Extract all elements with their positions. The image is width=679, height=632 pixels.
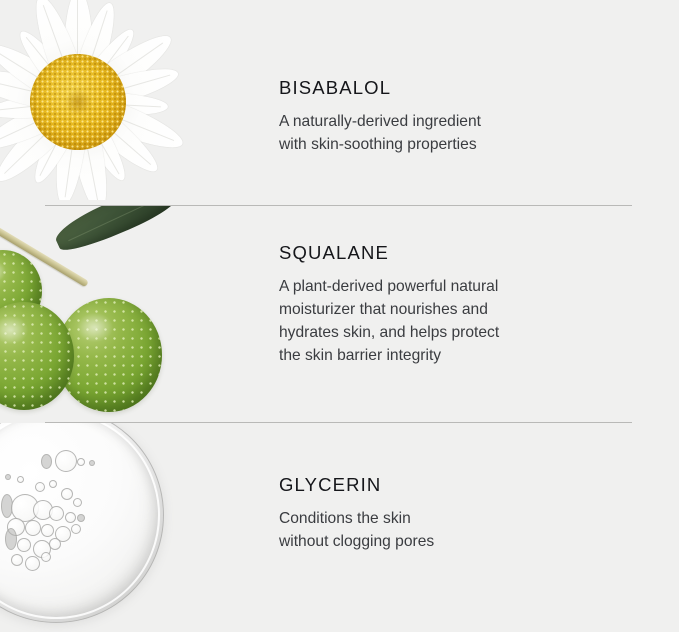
gel-bubble (49, 506, 64, 521)
gel-bubble (49, 480, 57, 488)
gel-bubble (77, 514, 85, 522)
gel-bubble (71, 524, 81, 534)
gel-bubble (35, 482, 45, 492)
gel-bubble (25, 520, 41, 536)
description-line: Conditions the skin (279, 508, 639, 531)
gel-bubble (17, 476, 24, 483)
gel-bubble (11, 554, 23, 566)
green-olives-image (0, 206, 210, 422)
description-line: the skin barrier integrity (279, 345, 639, 368)
olive-leaf (51, 206, 186, 259)
glycerin-gel-droplet-image (0, 423, 210, 632)
olive-fruit (0, 302, 74, 410)
ingredient-text-glycerin: GLYCERIN Conditions the skin without clo… (279, 475, 639, 554)
gel-bubble (77, 458, 85, 466)
daisy-flower-image (0, 0, 205, 200)
gel-bubble (5, 528, 17, 550)
description-line: with skin-soothing properties (279, 134, 639, 157)
ingredient-highlights-page: BISABALOL A naturally-derived ingredient… (0, 0, 679, 632)
description-line: A naturally-derived ingredient (279, 111, 639, 134)
gel-bubble (73, 498, 82, 507)
description-line: hydrates skin, and helps protect (279, 322, 639, 345)
gel-bubble (65, 512, 76, 523)
ingredient-row-bisabalol: BISABALOL A naturally-derived ingredient… (0, 0, 679, 205)
gel-bubble (89, 460, 95, 466)
gel-bubble (61, 488, 73, 500)
gel-bubble (49, 538, 61, 550)
gel-bubble (55, 450, 77, 472)
ingredient-description-glycerin: Conditions the skin without clogging por… (279, 508, 639, 554)
ingredient-text-bisabalol: BISABALOL A naturally-derived ingredient… (279, 78, 639, 157)
description-line: moisturizer that nourishes and (279, 299, 639, 322)
gel-droplet (0, 423, 164, 623)
ingredient-title-bisabalol: BISABALOL (279, 78, 639, 98)
ingredient-description-bisabalol: A naturally-derived ingredient with skin… (279, 111, 639, 157)
gel-bubble (25, 556, 40, 571)
description-line: without clogging pores (279, 531, 639, 554)
gel-bubble (41, 454, 52, 469)
ingredient-title-glycerin: GLYCERIN (279, 475, 639, 495)
daisy-center-disc (30, 54, 126, 150)
daisy-illustration (0, 0, 198, 200)
ingredient-description-squalane: A plant-derived powerful natural moistur… (279, 276, 639, 368)
ingredient-text-squalane: SQUALANE A plant-derived powerful natura… (279, 243, 639, 368)
gel-bubble (5, 474, 11, 480)
description-line: A plant-derived powerful natural (279, 276, 639, 299)
ingredient-title-squalane: SQUALANE (279, 243, 639, 263)
gel-bubble (41, 552, 51, 562)
gel-bubble (17, 538, 31, 552)
gel-bubble (41, 524, 54, 537)
